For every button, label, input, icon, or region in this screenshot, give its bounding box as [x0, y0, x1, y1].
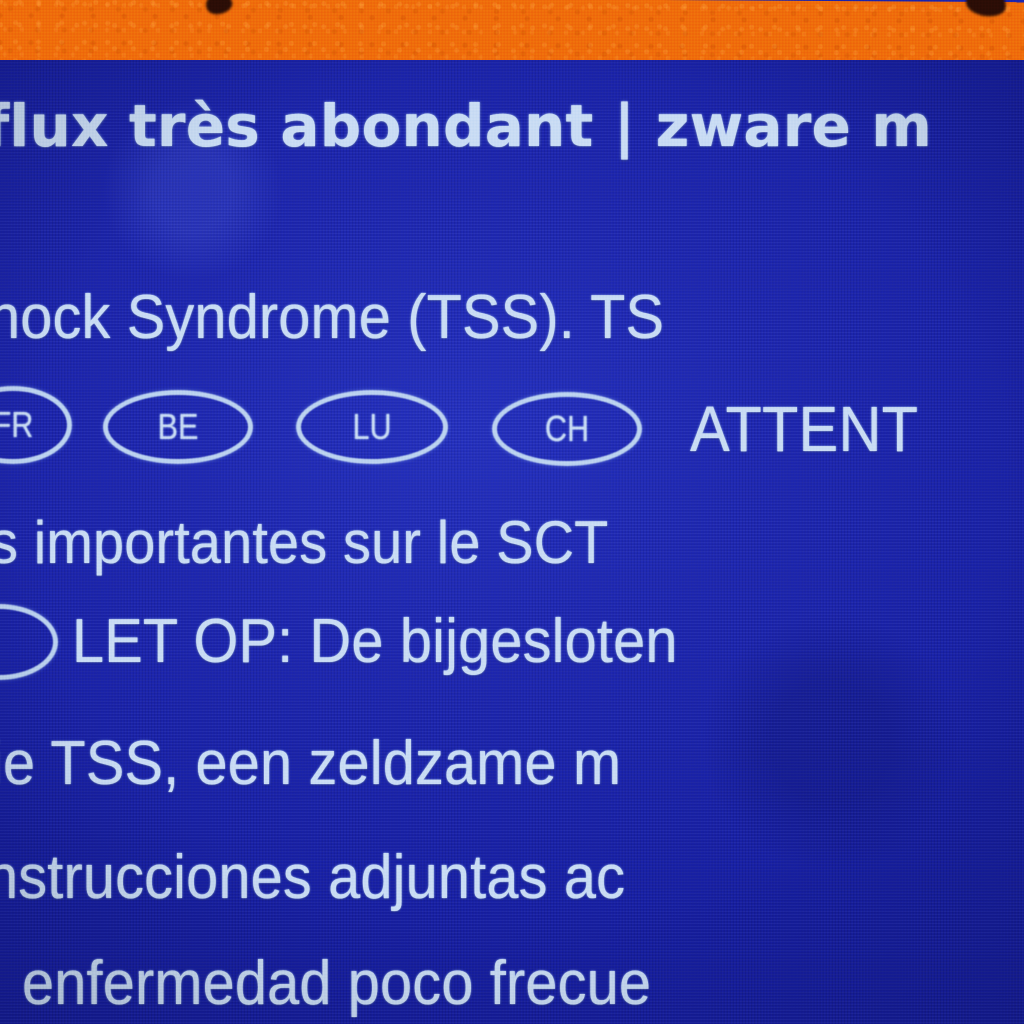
country-badge-nl-clipped [0, 604, 58, 680]
line-enfermedad-poco-frecuente: enfermedad poco frecue [22, 948, 651, 1019]
line-let-op-bijgesloten: LET OP: De bijgesloten [72, 606, 678, 677]
country-badge-be-label: BE [158, 406, 199, 448]
package-macro-photo: flux très abondant | zware mhock Syndrom… [0, 0, 1024, 1024]
country-badge-be: BE [103, 390, 253, 464]
line-attention-badges-row: ATTENT [690, 392, 918, 466]
line-informations-importantes-sct: s importantes sur le SCT [0, 508, 608, 577]
line-toxic-shock-syndrome: hock Syndrome (TSS). TS [0, 282, 664, 353]
country-badge-fr: FR [0, 386, 72, 464]
country-badge-ch-label: CH [545, 408, 589, 450]
country-badge-lu-label: LU [352, 406, 391, 448]
line-tss-zeldzame: ie TSS, een zeldzame m [0, 728, 621, 799]
country-badge-lu: LU [296, 390, 448, 464]
line-flux-tres-abondant: flux très abondant | zware m [0, 92, 932, 160]
country-badge-ch: CH [492, 392, 642, 466]
blue-printed-panel: flux très abondant | zware mhock Syndrom… [0, 60, 1024, 1024]
country-badge-fr-label: FR [0, 404, 33, 446]
line-instrucciones-adjuntas: nstrucciones adjuntas ac [0, 842, 625, 913]
